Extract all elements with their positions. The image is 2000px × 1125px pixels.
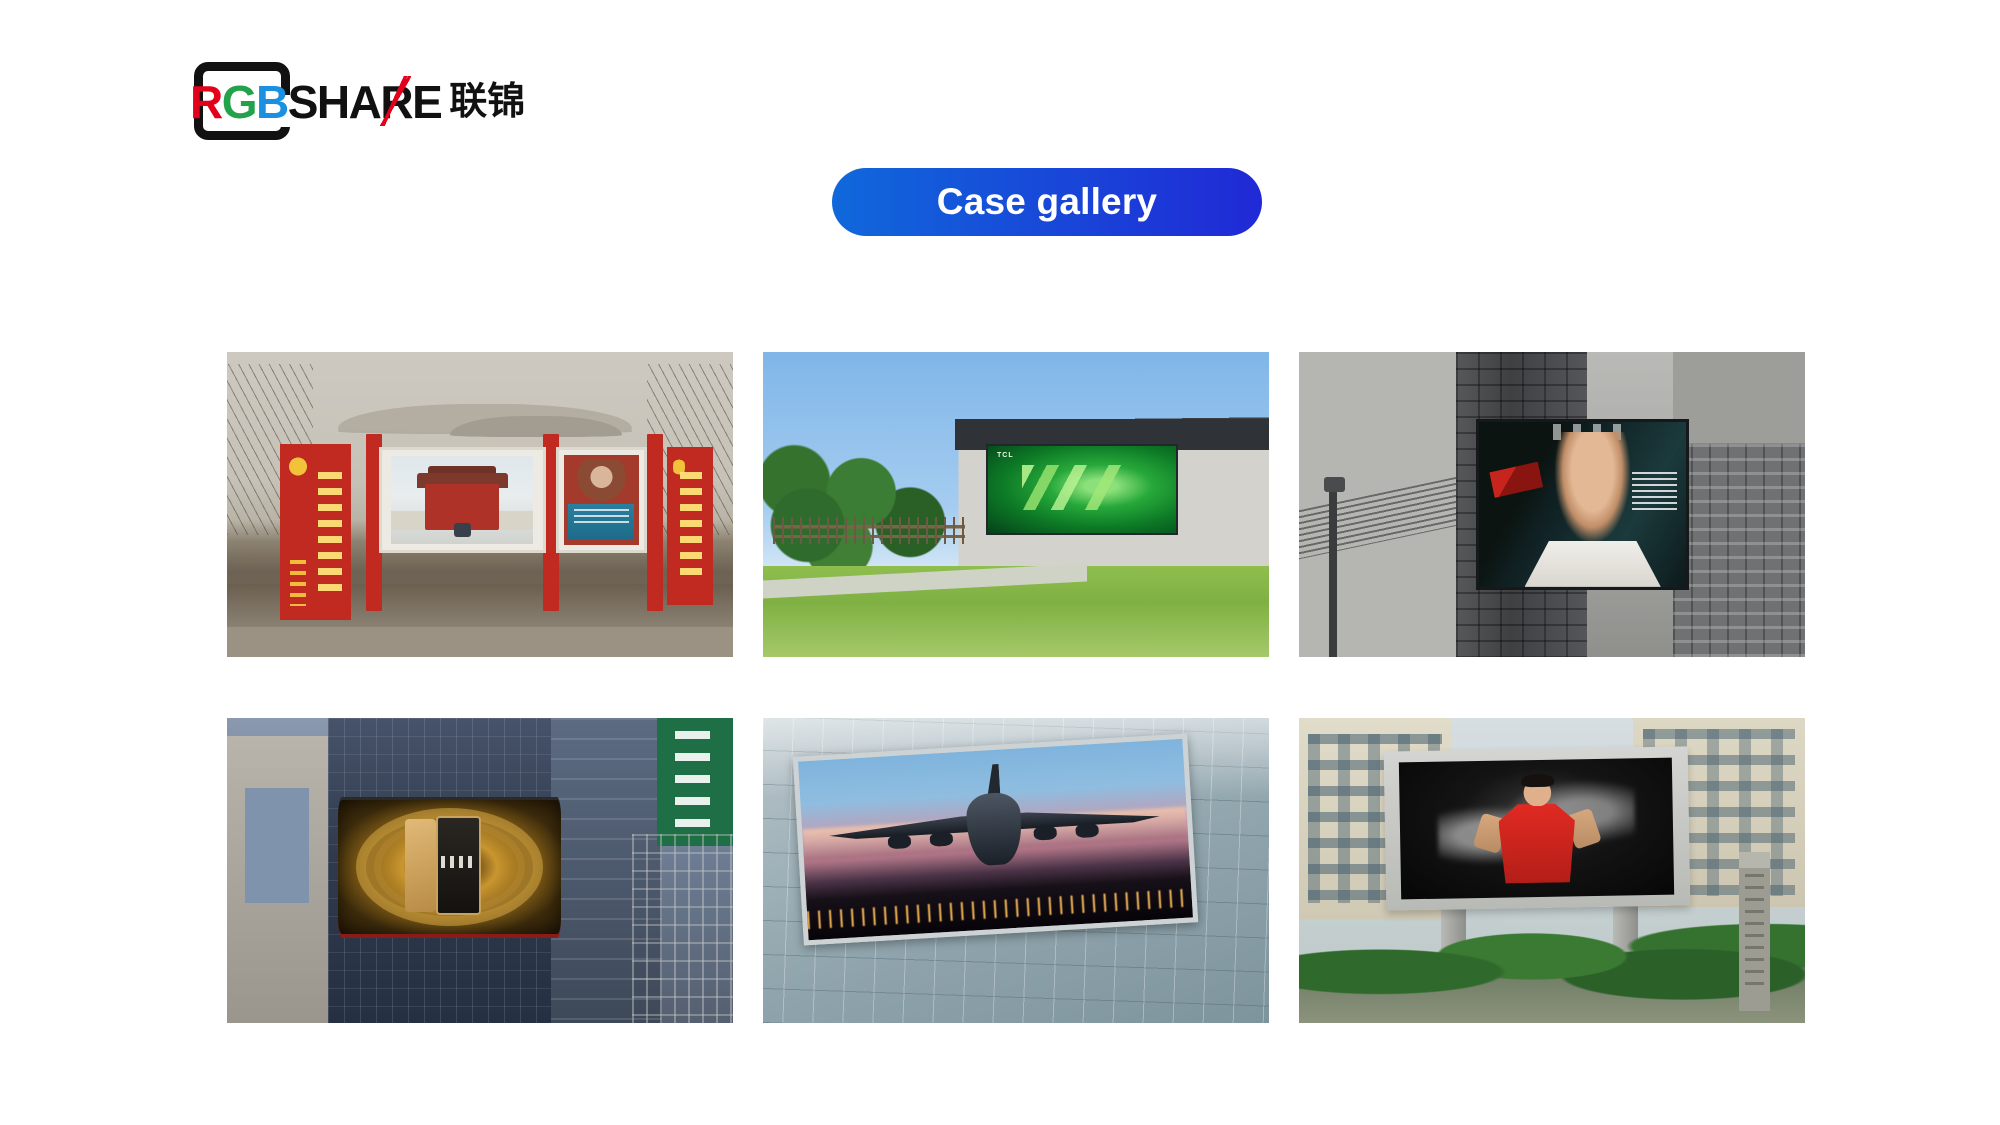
- case-6-photo: [1299, 718, 1805, 1023]
- gallery-item-case-2[interactable]: TCL: [763, 352, 1269, 657]
- gallery-item-case-4[interactable]: [227, 718, 733, 1023]
- case-gallery-title-label: Case gallery: [937, 181, 1157, 223]
- led-screen-temple: [391, 456, 533, 545]
- case-1-photo: [227, 352, 733, 657]
- page-root: RGBSHARE联锦 Case gallery: [0, 0, 2000, 1125]
- screen-brand-label: TCL: [997, 452, 1014, 459]
- gallery-item-case-1[interactable]: [227, 352, 733, 657]
- logo-share-text: SHARE: [288, 76, 442, 128]
- red-sign-stars: [290, 560, 306, 606]
- gallery-item-case-3[interactable]: [1299, 352, 1805, 657]
- right-facade: [1673, 352, 1805, 657]
- brand-logo[interactable]: RGBSHARE联锦: [190, 62, 560, 142]
- led-screen-green: TCL: [986, 444, 1178, 536]
- case-4-photo: [227, 718, 733, 1023]
- led-screen-curved: [338, 797, 561, 937]
- phone-rear-view: [405, 819, 436, 912]
- case-2-photo: TCL: [763, 352, 1269, 657]
- portrait-shirt: [1525, 541, 1661, 587]
- red-sign-right: [667, 447, 713, 606]
- portrait-face: [1549, 432, 1636, 554]
- red-sign-left: [280, 444, 351, 621]
- led-screen-portrait: [564, 455, 639, 546]
- athlete-jersey: [1498, 803, 1576, 883]
- case-gallery-grid: TCL: [227, 352, 1805, 1038]
- red-sign-left-text: [318, 472, 342, 596]
- led-screen-airplane: [793, 734, 1198, 946]
- logo-word-share: SHARE: [288, 79, 442, 125]
- logo-wordmark: RGBSHARE联锦: [190, 78, 525, 126]
- caption-panel: [568, 504, 634, 540]
- logo-letter-r: R: [190, 79, 222, 125]
- plaza-lamp-post: [1739, 852, 1769, 1011]
- led-board-left: [379, 447, 546, 554]
- screen-red-title-graphic: [1489, 462, 1543, 498]
- plaza-trees: [1299, 895, 1805, 1023]
- street-lamp-head: [1324, 477, 1344, 492]
- mall-green-sign: [657, 718, 733, 846]
- dragon-graphic: [1022, 465, 1154, 511]
- case-3-photo: [1299, 352, 1805, 657]
- athlete-hair: [1521, 773, 1554, 787]
- led-board-right: [556, 447, 647, 554]
- wooden-fence: [773, 517, 965, 544]
- led-screen-corner: [1476, 419, 1689, 590]
- screen-slogan-text: [441, 856, 477, 868]
- logo-letter-g: G: [222, 79, 256, 125]
- case-gallery-title-button[interactable]: Case gallery: [832, 168, 1262, 236]
- temple-visitors: [454, 523, 471, 537]
- led-screen-athlete: [1399, 757, 1675, 898]
- airplane-body: [966, 792, 1024, 867]
- red-pillar-3: [647, 434, 663, 611]
- billboard-frame: [1384, 746, 1690, 910]
- screen-name-text: [1632, 472, 1677, 512]
- case-5-photo: [763, 718, 1269, 1023]
- logo-chinese-name: 联锦: [449, 83, 525, 121]
- left-building: [227, 736, 338, 1023]
- tree-line: [763, 437, 986, 583]
- red-sign-right-text: [680, 472, 702, 583]
- runway-lights: [807, 889, 1192, 930]
- logo-letter-b: B: [256, 79, 288, 125]
- scaffolding: [632, 834, 733, 1023]
- gallery-item-case-5[interactable]: [763, 718, 1269, 1023]
- gallery-item-case-6[interactable]: [1299, 718, 1805, 1023]
- street-lamp-pole: [1329, 486, 1337, 657]
- dirt-strip: [227, 627, 733, 658]
- portrait-figure: [570, 459, 633, 504]
